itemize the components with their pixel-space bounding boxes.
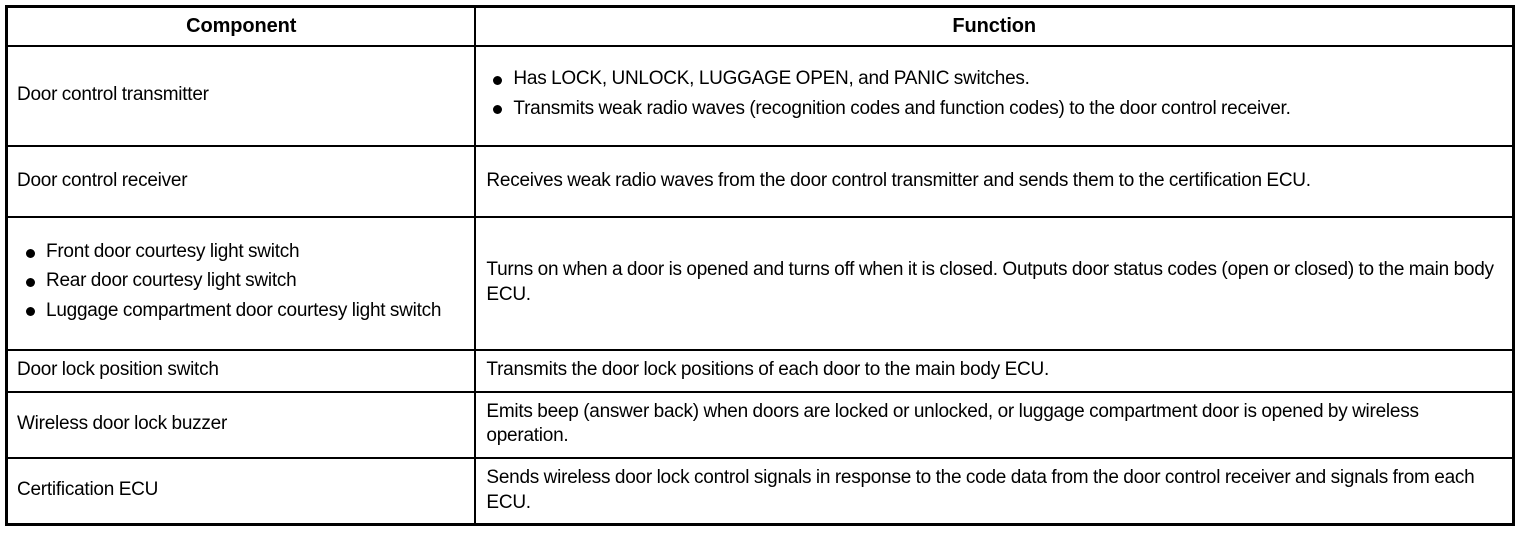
cell-function: Turns on when a door is opened and turns… — [475, 217, 1513, 350]
list-item-label: Rear door courtesy light switch — [46, 270, 296, 291]
function-bullet-list: Has LOCK, UNLOCK, LUGGAGE OPEN, and PANI… — [486, 66, 1500, 120]
cell-component: Certification ECU — [7, 458, 476, 525]
column-header-function: Function — [475, 7, 1513, 47]
component-label: Door lock position switch — [17, 358, 465, 383]
list-item: Has LOCK, UNLOCK, LUGGAGE OPEN, and PANI… — [486, 66, 1500, 91]
list-item-label: Luggage compartment door courtesy light … — [46, 300, 441, 321]
table-header-row: Component Function — [7, 7, 1514, 47]
component-text-wrap: Door control receiver — [8, 162, 474, 202]
component-bullet-list: Front door courtesy light switch Rear do… — [17, 239, 465, 322]
cell-function: Transmits the door lock positions of eac… — [475, 350, 1513, 392]
function-text-wrap: Receives weak radio waves from the door … — [476, 162, 1512, 202]
list-item-label: Front door courtesy light switch — [46, 241, 299, 262]
component-text-wrap: Door lock position switch — [8, 351, 474, 391]
table-row: Door control transmitter Has LOCK, UNLOC… — [7, 46, 1514, 146]
component-text-wrap: Certification ECU — [8, 471, 474, 511]
function-text-wrap: Has LOCK, UNLOCK, LUGGAGE OPEN, and PANI… — [476, 59, 1512, 132]
bullet-icon — [493, 76, 502, 85]
list-item: Rear door courtesy light switch — [17, 268, 465, 293]
list-item: Transmits weak radio waves (recognition … — [486, 96, 1500, 121]
list-item: Front door courtesy light switch — [17, 239, 465, 264]
cell-function: Emits beep (answer back) when doors are … — [475, 392, 1513, 458]
bullet-icon — [26, 249, 35, 258]
bullet-icon — [26, 278, 35, 287]
component-text-wrap: Front door courtesy light switch Rear do… — [8, 232, 474, 334]
function-text-wrap: Emits beep (answer back) when doors are … — [476, 393, 1512, 457]
bullet-icon — [26, 307, 35, 316]
component-label: Door control transmitter — [17, 83, 465, 108]
cell-component: Wireless door lock buzzer — [7, 392, 476, 458]
table-body: Door control transmitter Has LOCK, UNLOC… — [7, 46, 1514, 525]
list-item-label: Transmits weak radio waves (recognition … — [513, 98, 1290, 119]
function-label: Turns on when a door is opened and turns… — [486, 258, 1500, 307]
cell-function: Receives weak radio waves from the door … — [475, 146, 1513, 217]
function-label: Emits beep (answer back) when doors are … — [486, 400, 1500, 449]
list-item: Luggage compartment door courtesy light … — [17, 298, 465, 323]
table-header: Component Function — [7, 7, 1514, 47]
cell-component: Door control transmitter — [7, 46, 476, 146]
component-label: Wireless door lock buzzer — [17, 412, 465, 437]
function-label: Sends wireless door lock control signals… — [486, 466, 1500, 515]
cell-component: Front door courtesy light switch Rear do… — [7, 217, 476, 350]
component-label: Door control receiver — [17, 169, 465, 194]
bullet-icon — [493, 105, 502, 114]
table-row: Wireless door lock buzzer Emits beep (an… — [7, 392, 1514, 458]
component-function-table: Component Function Door control transmit… — [5, 5, 1515, 526]
function-label: Receives weak radio waves from the door … — [486, 169, 1500, 194]
component-label: Certification ECU — [17, 478, 465, 503]
cell-component: Door lock position switch — [7, 350, 476, 392]
table-row: Door control receiver Receives weak radi… — [7, 146, 1514, 217]
function-text-wrap: Transmits the door lock positions of eac… — [476, 351, 1512, 391]
component-text-wrap: Wireless door lock buzzer — [8, 405, 474, 445]
cell-function: Has LOCK, UNLOCK, LUGGAGE OPEN, and PANI… — [475, 46, 1513, 146]
document-page: Component Function Door control transmit… — [0, 0, 1520, 558]
cell-function: Sends wireless door lock control signals… — [475, 458, 1513, 525]
component-text-wrap: Door control transmitter — [8, 76, 474, 116]
function-text-wrap: Turns on when a door is opened and turns… — [476, 251, 1512, 315]
cell-component: Door control receiver — [7, 146, 476, 217]
function-label: Transmits the door lock positions of eac… — [486, 358, 1500, 383]
table-row: Door lock position switch Transmits the … — [7, 350, 1514, 392]
table-row: Front door courtesy light switch Rear do… — [7, 217, 1514, 350]
function-text-wrap: Sends wireless door lock control signals… — [476, 459, 1512, 523]
table-row: Certification ECU Sends wireless door lo… — [7, 458, 1514, 525]
list-item-label: Has LOCK, UNLOCK, LUGGAGE OPEN, and PANI… — [513, 68, 1029, 89]
column-header-component: Component — [7, 7, 476, 47]
